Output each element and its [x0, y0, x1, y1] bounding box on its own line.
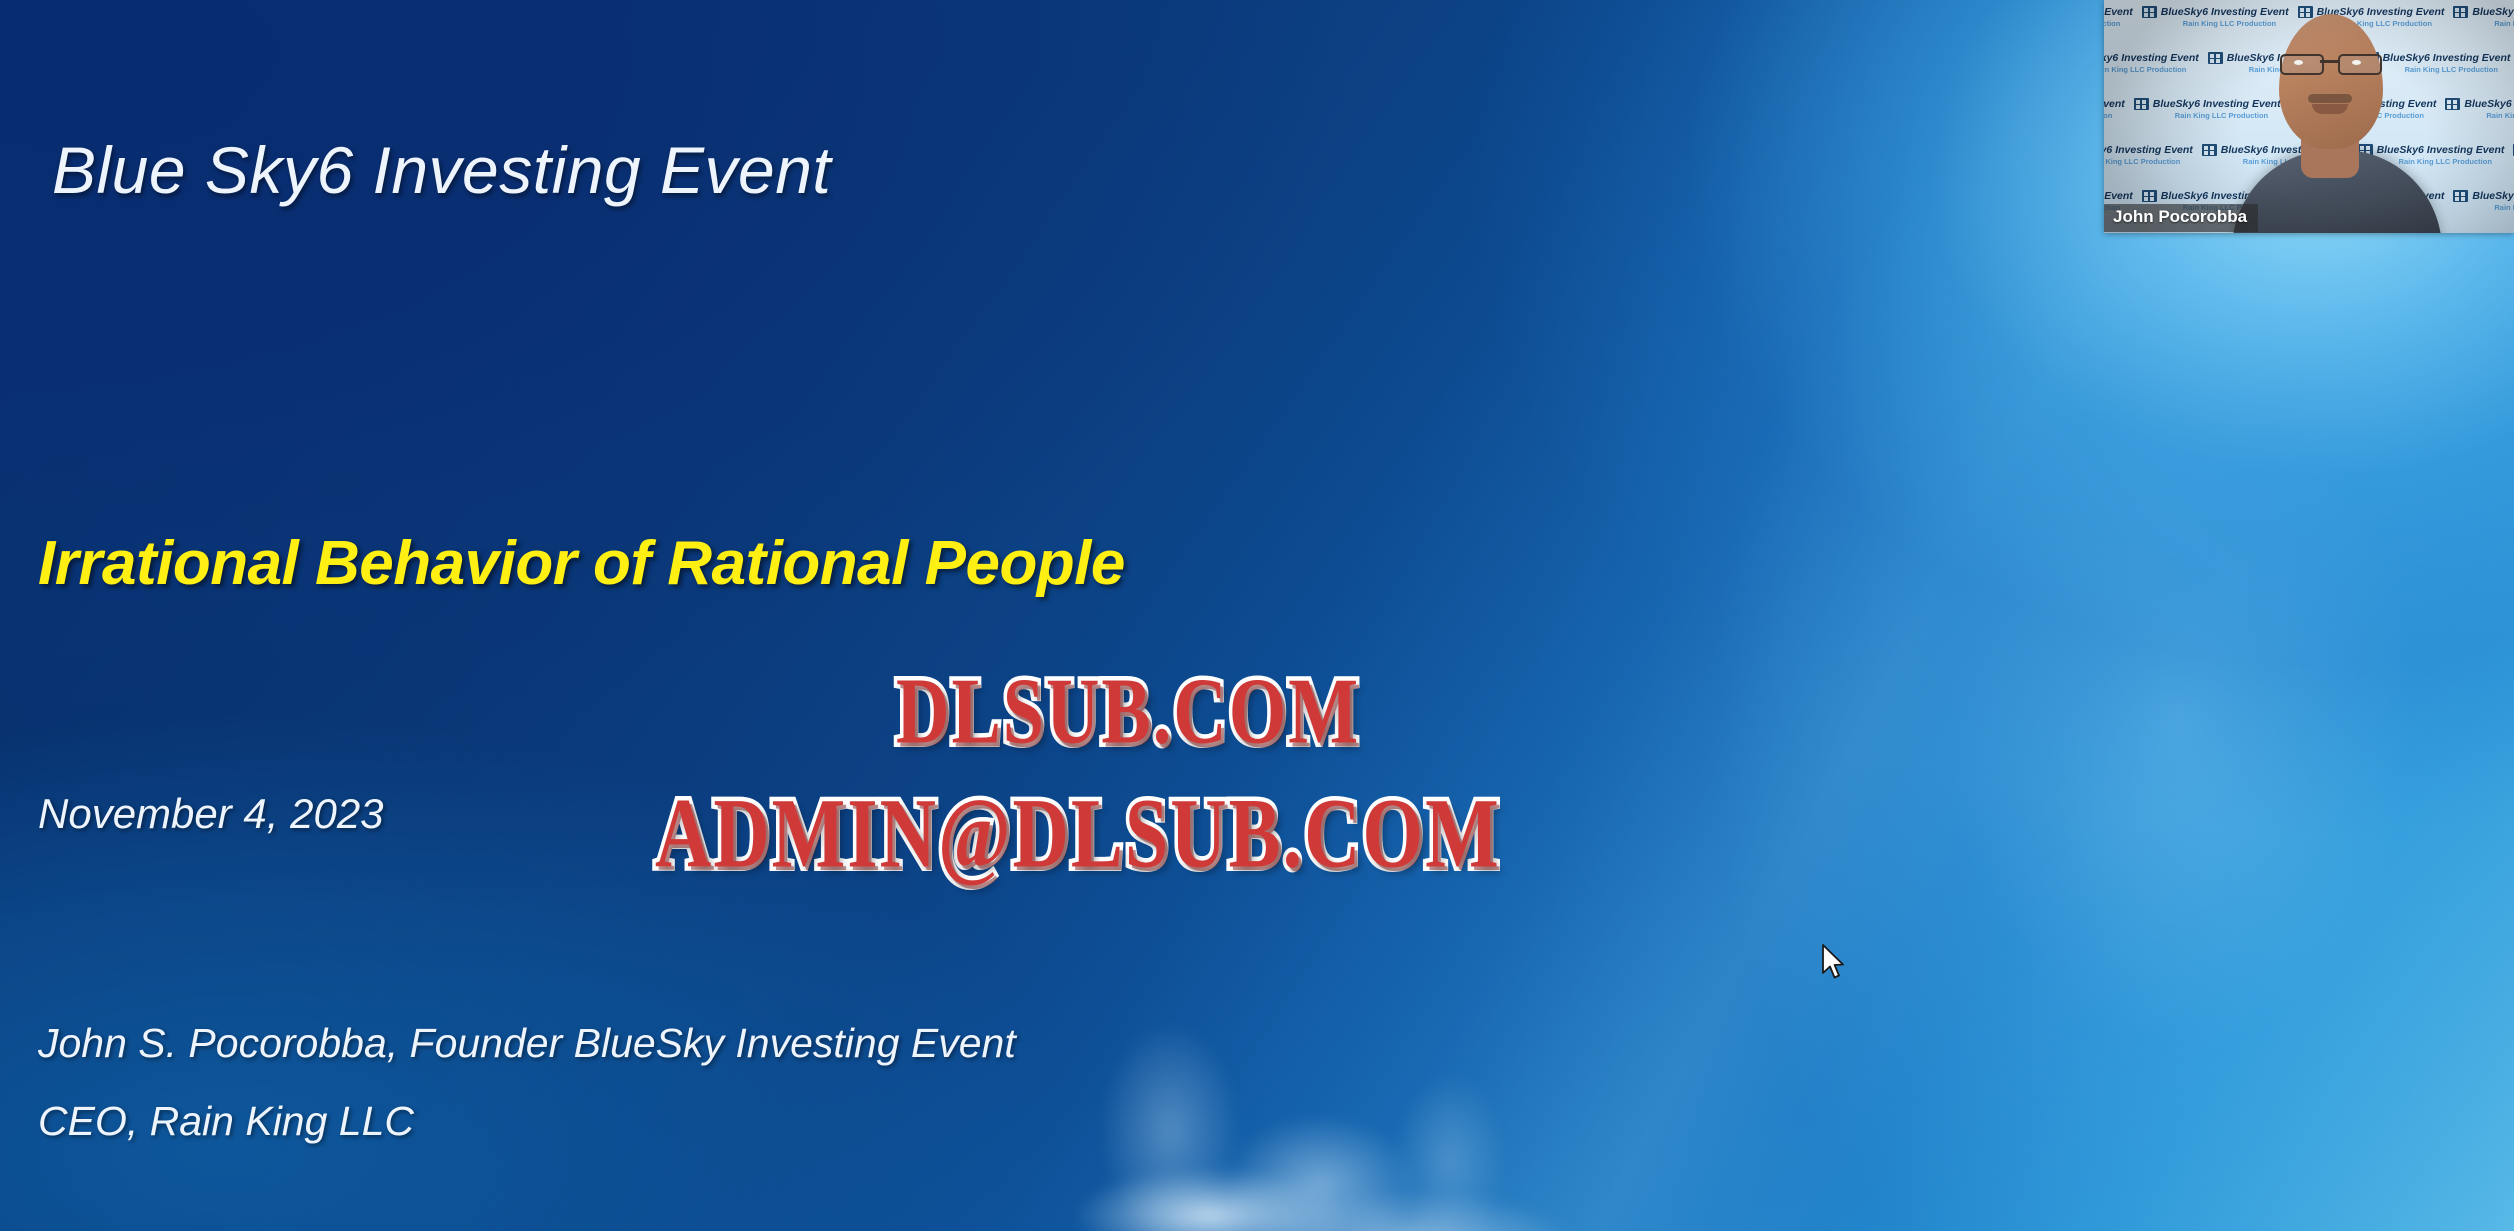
slide-headline: Irrational Behavior of Rational People	[38, 528, 1125, 599]
webcam-participant-video	[2104, 0, 2514, 233]
participant-head	[2279, 14, 2383, 149]
watermark-site-url: DLSUB.COM	[896, 658, 1360, 767]
slide-title: Blue Sky6 Investing Event	[52, 132, 831, 208]
participant-eye-right	[2352, 60, 2361, 65]
participant-mouth	[2312, 104, 2348, 114]
webcam-pip-panel[interactable]: BlueSky6 Investing EventRain King LLC Pr…	[2104, 0, 2514, 233]
webcam-participant-name-label: John Pocorobba	[2104, 204, 2258, 232]
presentation-screen-share: Blue Sky6 Investing Event Irrational Beh…	[0, 0, 2514, 1231]
participant-eye-left	[2294, 60, 2303, 65]
slide-author-name: John S. Pocorobba, Founder BlueSky Inves…	[38, 1020, 1016, 1067]
watermark-email: ADMIN@DLSUB.COM	[655, 775, 1501, 890]
slide-date: November 4, 2023	[38, 790, 384, 838]
participant-mustache	[2308, 94, 2352, 103]
slide-author-role: CEO, Rain King LLC	[38, 1098, 414, 1145]
